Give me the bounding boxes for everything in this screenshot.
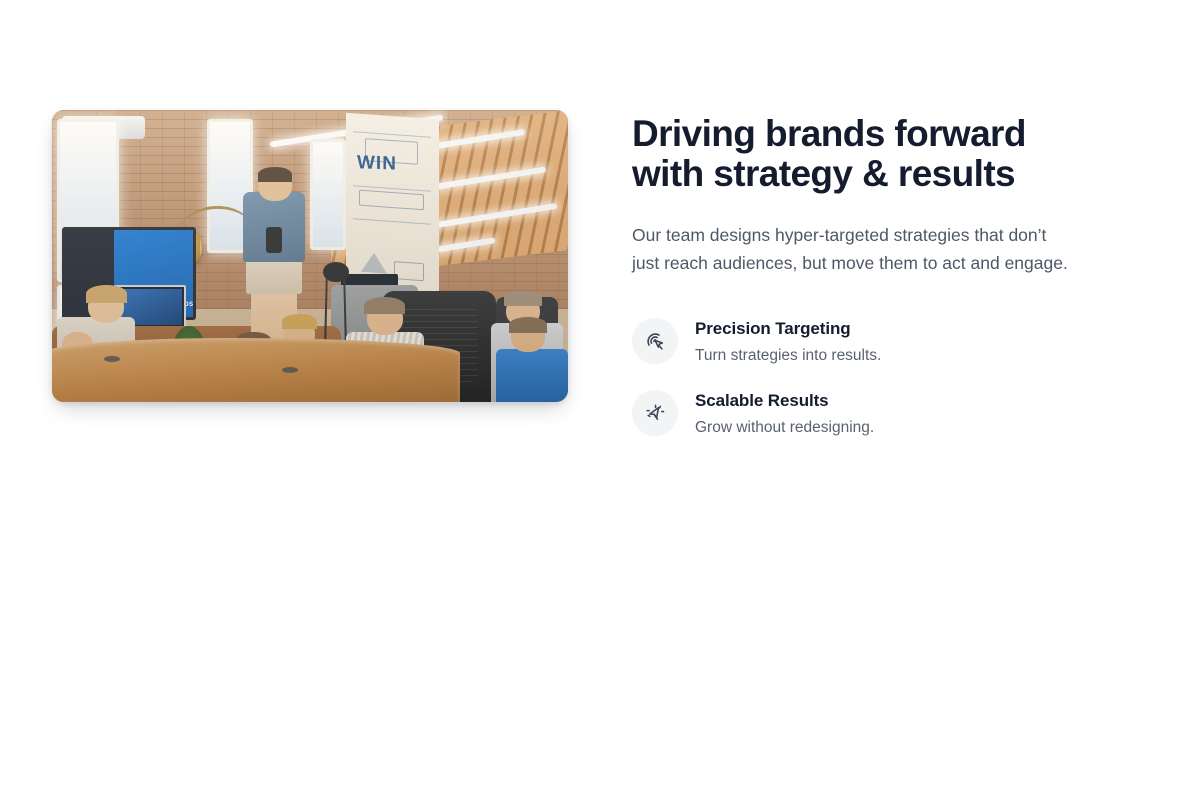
attendee-hair	[364, 297, 405, 315]
hero-subcopy: Our team designs hyper-targeted strategi…	[632, 221, 1148, 278]
whiteboard-wall: WIN	[346, 113, 439, 301]
camera-head	[323, 262, 349, 282]
feature-text: Precision Targeting Turn strategies into…	[695, 317, 881, 367]
attendee-body	[496, 349, 568, 402]
office-meeting-photo: WIN Proof ALL HANDS	[52, 110, 568, 402]
hero-image: WIN Proof ALL HANDS	[52, 110, 568, 402]
presenter-hair	[258, 167, 292, 182]
feature-list: Precision Targeting Turn strategies into…	[632, 317, 1148, 439]
attendee-hair	[86, 285, 127, 303]
feature-description: Turn strategies into results.	[695, 346, 881, 367]
pyramid-diagram	[361, 251, 387, 273]
cursor-sparkle-icon	[632, 390, 678, 436]
feature-description: Grow without redesigning.	[695, 418, 874, 439]
microphone	[266, 227, 281, 253]
feature-title: Scalable Results	[695, 391, 874, 411]
cursor-click-icon	[632, 318, 678, 364]
attendee-hair	[504, 291, 543, 306]
feature-text: Scalable Results Grow without redesignin…	[695, 389, 874, 439]
wall-win-text: WIN	[357, 152, 397, 175]
feature-item-precision-targeting: Precision Targeting Turn strategies into…	[632, 317, 1148, 367]
feature-title: Precision Targeting	[695, 319, 881, 339]
hero-section: WIN Proof ALL HANDS	[52, 110, 1148, 439]
page-root: WIN Proof ALL HANDS	[0, 0, 1200, 800]
feature-item-scalable-results: Scalable Results Grow without redesignin…	[632, 389, 1148, 439]
camera-tripod	[324, 277, 347, 347]
window	[310, 139, 346, 250]
hero-text-column: Driving brands forward with strategy & r…	[632, 110, 1148, 439]
attendee-hair	[282, 314, 317, 329]
conference-table	[52, 338, 460, 402]
attendee-hair	[509, 317, 548, 333]
page-title: Driving brands forward with strategy & r…	[632, 114, 1148, 195]
hero-media-column: WIN Proof ALL HANDS	[52, 110, 568, 402]
